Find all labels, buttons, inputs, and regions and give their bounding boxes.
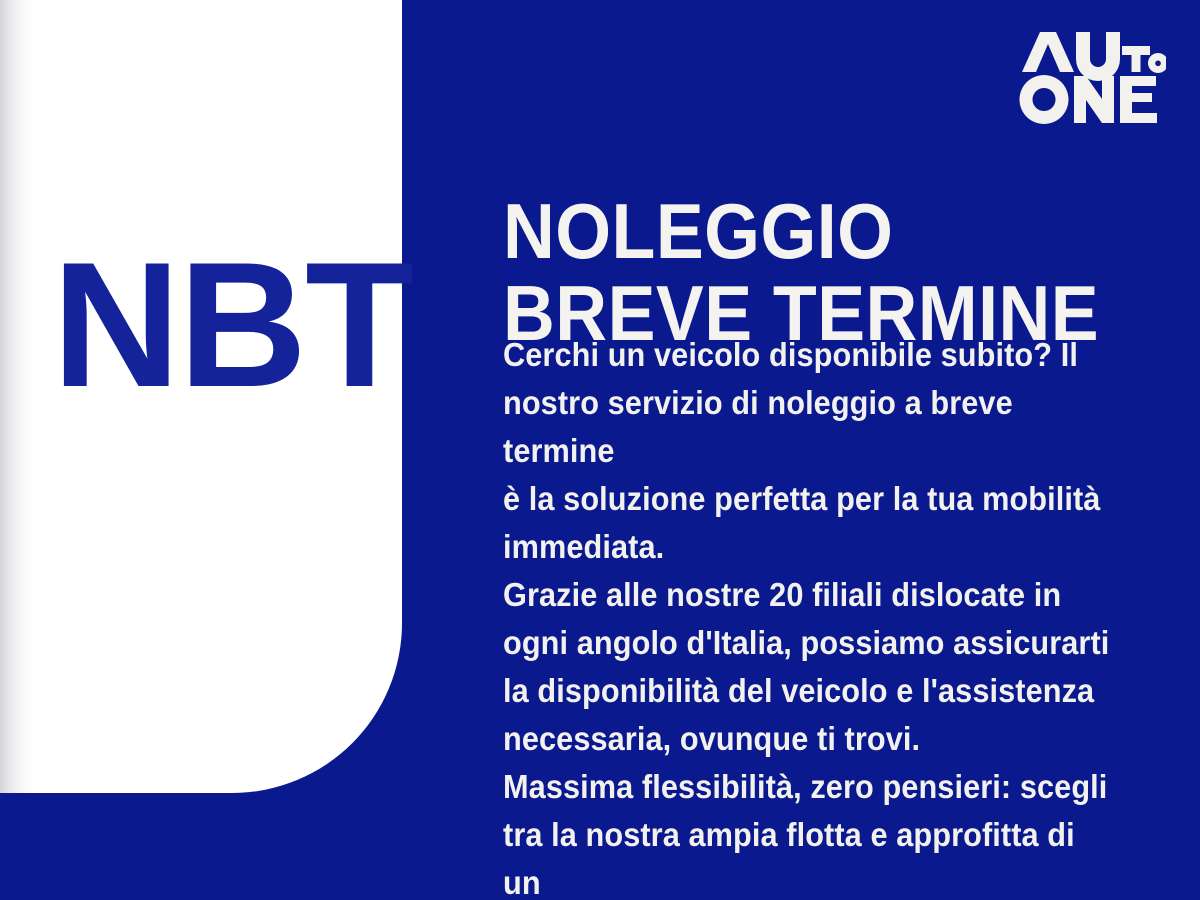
promo-poster: NBT NOLEGGIO BREVE TERMINE [0, 0, 1200, 900]
body-description: Cerchi un veicolo disponibile subito? Il… [503, 331, 1117, 900]
content-column: NOLEGGIO BREVE TERMINE Cerchi un veicolo… [503, 0, 1153, 900]
page-title: NOLEGGIO BREVE TERMINE [503, 190, 1101, 354]
panel-edge-shading [0, 0, 34, 793]
nbt-abbreviation: NBT [52, 236, 352, 414]
